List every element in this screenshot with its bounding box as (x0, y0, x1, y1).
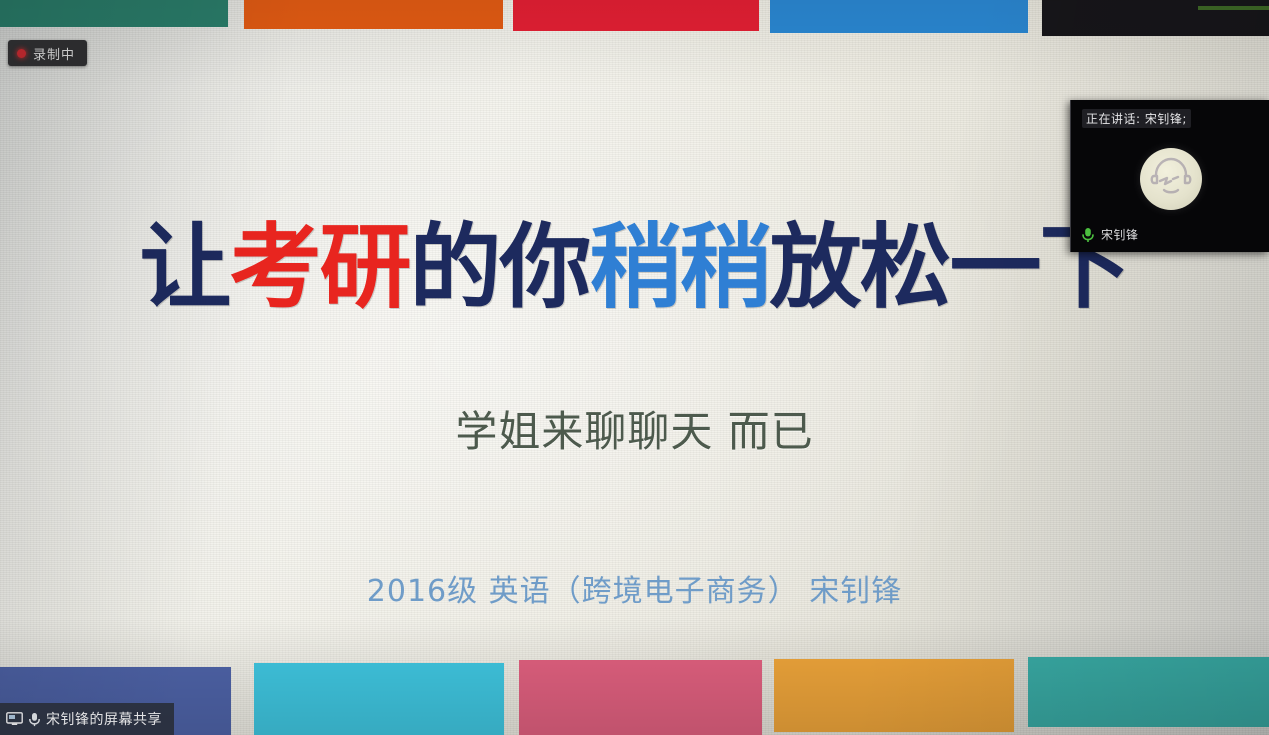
title-segment-1: 让 (139, 214, 229, 321)
speaking-indicator-label: 正在讲话: 宋钊锋; (1082, 109, 1191, 128)
microphone-icon (1081, 227, 1095, 243)
avatar (1140, 148, 1202, 210)
title-segment-4: 稍稍 (590, 214, 770, 321)
record-dot-icon (17, 49, 26, 58)
screen-share-status-bar[interactable]: 宋钊锋的屏幕共享 (0, 703, 174, 735)
monitor-icon (6, 712, 23, 727)
title-segment-2: 考研 (229, 214, 409, 321)
screen-share-view: 让考研的你稍稍放松一下 学姐来聊聊天 而已 2016级 英语（跨境电子商务） 宋… (0, 0, 1269, 735)
participant-name: 宋钊锋 (1101, 226, 1139, 243)
title-segment-3: 的你 (409, 214, 589, 321)
bar-green-line (1198, 6, 1269, 10)
bar-cyan (254, 663, 504, 735)
slide-subtitle: 学姐来聊聊天 而已 (0, 398, 1269, 459)
recording-badge[interactable]: 录制中 (8, 40, 87, 66)
bar-teal (1028, 657, 1269, 727)
recording-label: 录制中 (33, 44, 75, 63)
bar-blue (770, 0, 1028, 33)
bar-teal-green (0, 0, 228, 27)
slide-byline: 2016级 英语（跨境电子商务） 宋钊锋 (0, 566, 1269, 610)
bar-pink (519, 660, 762, 735)
bar-orange (244, 0, 503, 29)
panel-participant: 宋钊锋 (1081, 226, 1139, 243)
video-thumbnail-panel[interactable]: 正在讲话: 宋钊锋; 宋钊锋 (1070, 100, 1269, 252)
bar-orange (774, 659, 1014, 732)
screen-share-label: 宋钊锋的屏幕共享 (46, 709, 162, 729)
microphone-icon (28, 712, 41, 727)
bar-red (513, 0, 759, 31)
